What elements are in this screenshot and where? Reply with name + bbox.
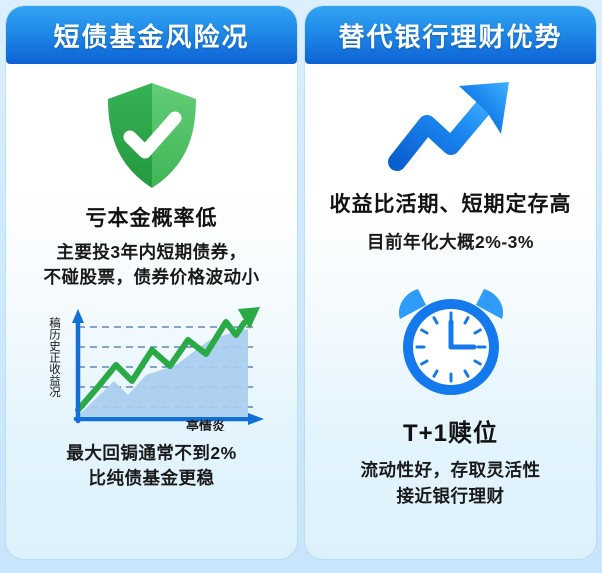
panel-bank-wealth-alternative: 替代银行理财优势 收益比活期、短期定存高 目前 [305,6,596,559]
growth-chart-icon: 稿历史正收益况 [36,303,268,431]
panel-title-right: 替代银行理财优势 [338,17,562,54]
subline-principal-loss-1: 主要投3年内短期债券， [56,240,246,265]
chart-area-fill [78,329,248,416]
panel-header-right: 替代银行理财优势 [305,6,596,64]
up-trend-arrow-icon [383,78,519,176]
infographic-board: 短债基金风险况 [0,0,602,573]
chart-yaxis-arrow [72,309,84,323]
shield-check-icon [100,80,204,192]
panel-short-debt-fund-risk: 短债基金风险况 [6,6,297,559]
subline-t-plus-one-1: 流动性好，存取灵活性 [361,458,541,483]
section-t-plus-one-redemption: T+1赎位 流动性好，存取灵活性 接近银行理财 [305,255,596,509]
heading-principal-loss: 亏本金概率低 [86,202,218,232]
subline-principal-loss-2: 不碰股票，债券价格波动小 [44,265,260,290]
chart-xaxis-arrow [248,413,264,425]
section-historical-return-chart: 稿历史正收益况 [6,291,297,492]
subline-drawdown-2: 比纯债基金更稳 [89,466,215,491]
chart-ylabel: 稿历史正收益况 [48,316,61,397]
heading-t-plus-one: T+1赎位 [403,413,498,448]
alarm-clock-icon [388,279,514,401]
section-higher-yield: 收益比活期、短期定存高 目前年化大概2%-3% [305,64,596,255]
panel-title-left: 短债基金风险况 [53,17,249,54]
subline-t-plus-one-2: 接近银行理财 [397,484,505,509]
subline-drawdown-1: 最大回锔通常不到2% [66,441,236,466]
subline-higher-yield-1: 目前年化大概2%-3% [367,230,534,255]
panel-header-left: 短债基金风险况 [6,6,297,64]
heading-higher-yield: 收益比活期、短期定存高 [330,188,572,218]
section-principal-loss: 亏本金概率低 主要投3年内短期债券， 不碰股票，债券价格波动小 [6,64,297,291]
chart-xlabel: 亭情炎 [186,419,225,431]
